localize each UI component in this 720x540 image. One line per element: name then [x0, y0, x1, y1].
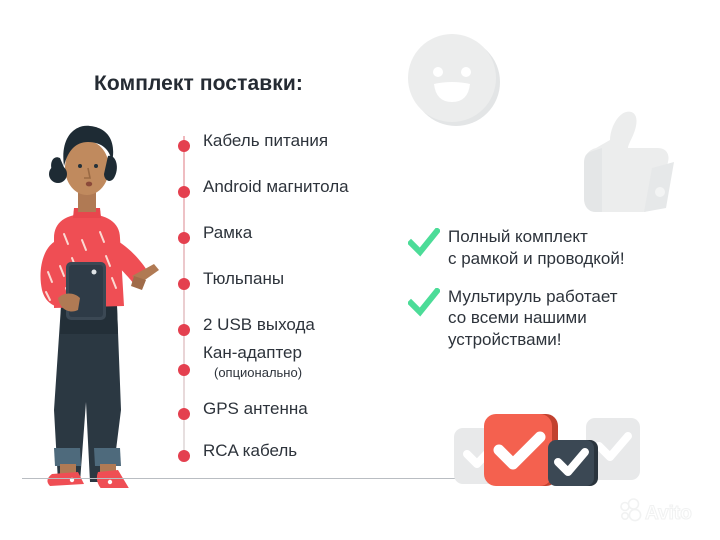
thumbs-up-icon — [566, 104, 684, 216]
smiley-face-icon — [398, 24, 510, 136]
bullet-dot-icon — [178, 186, 190, 198]
bullet-dot-icon — [178, 450, 190, 462]
bullet-dot-icon — [178, 324, 190, 336]
list-item-label: Кан-адаптер — [203, 344, 302, 361]
promo-card: Комплект поставки: Кабель питания Androi… — [0, 0, 720, 540]
claim-line: Мультируль работает — [448, 286, 708, 308]
avito-watermark: Avito — [618, 498, 710, 524]
list-item-sublabel: (опционально) — [214, 366, 302, 379]
claim-text: Полный комплект с рамкой и проводкой! — [448, 226, 708, 270]
check-icon — [408, 288, 440, 318]
page-title: Комплект поставки: — [94, 72, 303, 96]
avito-watermark-text: Avito — [645, 503, 692, 524]
claim-text: Мультируль работает со всеми нашими устр… — [448, 286, 708, 351]
checkbox-cards-illustration — [452, 404, 642, 496]
claim-line: устройствами! — [448, 329, 708, 351]
check-icon — [408, 228, 440, 258]
bullet-dot-icon — [178, 364, 190, 376]
list-item-label: Тюльпаны — [203, 270, 284, 287]
bullet-dot-icon — [178, 140, 190, 152]
bullet-dot-icon — [178, 278, 190, 290]
list-item-label: Кабель питания — [203, 132, 328, 149]
claim-item: Полный комплект с рамкой и проводкой! — [408, 226, 708, 270]
claim-line: Полный комплект — [448, 226, 708, 248]
list-item-label: RCA кабель — [203, 442, 297, 459]
claims-list: Полный комплект с рамкой и проводкой! Му… — [408, 226, 708, 367]
list-item-label: GPS антенна — [203, 400, 308, 417]
list-item-label: Android магнитола — [203, 178, 349, 195]
avito-logo-icon — [621, 499, 641, 521]
claim-item: Мультируль работает со всеми нашими устр… — [408, 286, 708, 351]
woman-with-tablet-illustration — [14, 110, 164, 488]
claim-line: с рамкой и проводкой! — [448, 248, 708, 270]
list-item-label: Рамка — [203, 224, 252, 241]
claim-line: со всеми нашими — [448, 307, 708, 329]
bullet-dot-icon — [178, 232, 190, 244]
list-item-label: 2 USB выхода — [203, 316, 315, 333]
bullet-dot-icon — [178, 408, 190, 420]
ground-line — [22, 478, 457, 479]
spec-list: Кабель питания Android магнитола Рамка Т… — [170, 126, 410, 466]
